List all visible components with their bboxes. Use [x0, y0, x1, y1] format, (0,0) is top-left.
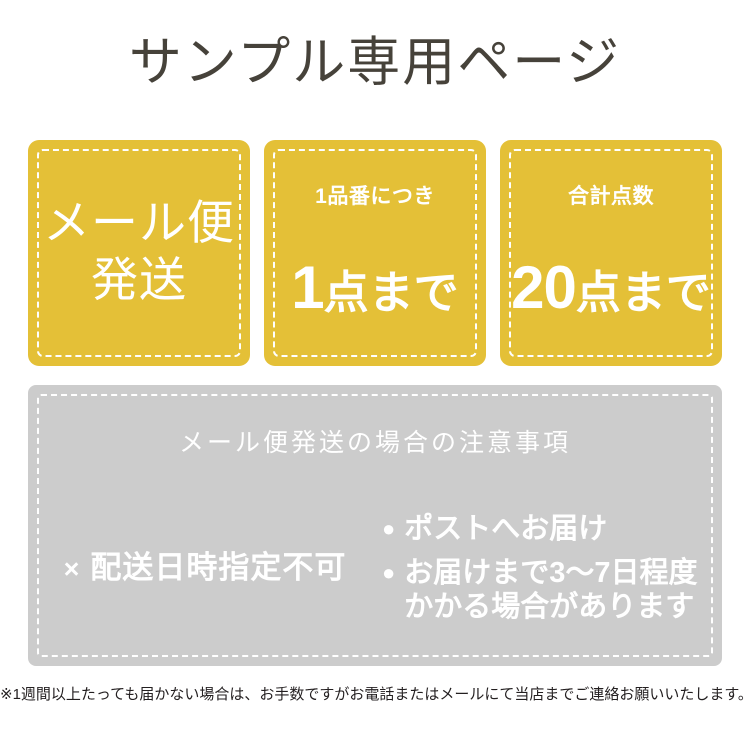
- list-item-text: お届けまで3〜7日程度 かかる場合があります: [404, 556, 697, 624]
- notice-no-date-designation: ×配送日時指定不可: [28, 548, 382, 589]
- list-item-line1: お届けまで3〜7日程度: [404, 557, 697, 589]
- card-per-item-limit: 1品番につき 1点まで: [264, 140, 486, 366]
- bullet-dot-icon: ●: [382, 512, 395, 546]
- info-cards-row: メール便 発送 1品番につき 1点まで 合計点数 20点まで: [28, 140, 722, 366]
- notice-left-text: 配送日時指定不可: [90, 550, 346, 585]
- card-total-value: 20点まで: [500, 255, 722, 337]
- card-mail-shipping-line2: 発送: [91, 253, 187, 310]
- notice-body: ×配送日時指定不可 ● ポストへお届け ● お届けまで3〜7日程度 かかる場合が…: [28, 493, 722, 643]
- notice-panel: メール便発送の場合の注意事項 ×配送日時指定不可 ● ポストへお届け ● お届け…: [28, 385, 722, 666]
- card-mail-shipping-content: メール便 発送: [28, 140, 250, 366]
- card-total-number: 20: [511, 254, 576, 321]
- card-per-item-number: 1: [291, 254, 323, 321]
- card-mail-shipping: メール便 発送: [28, 140, 250, 366]
- card-total-limit: 合計点数 20点まで: [500, 140, 722, 366]
- footer-note: ※1週間以上たっても届かない場合は、お手数ですがお電話またはメールにて当店までご…: [0, 684, 750, 706]
- list-item: ● お届けまで3〜7日程度 かかる場合があります: [382, 556, 712, 624]
- card-total-unit: 点まで: [576, 267, 711, 318]
- notice-bullet-list: ● ポストへお届け ● お届けまで3〜7日程度 かかる場合があります: [382, 512, 712, 624]
- page-title: サンプル専用ページ: [0, 32, 750, 94]
- sample-page: サンプル専用ページ メール便 発送 1品番につき 1点まで 合計点数 20点まで: [0, 0, 750, 750]
- card-per-item-unit: 点まで: [324, 267, 459, 318]
- list-item-text: ポストへお届け: [404, 512, 607, 546]
- list-item-line2: かかる場合があります: [404, 590, 697, 624]
- notice-heading: メール便発送の場合の注意事項: [28, 427, 722, 459]
- card-per-item-sublabel: 1品番につき: [264, 184, 486, 210]
- cross-icon: ×: [64, 554, 81, 584]
- card-mail-shipping-line1: メール便: [43, 196, 235, 253]
- card-per-item-value: 1点まで: [264, 255, 486, 337]
- list-item-line1: ポストへお届け: [404, 513, 607, 545]
- card-total-sublabel: 合計点数: [500, 184, 722, 210]
- bullet-dot-icon: ●: [382, 556, 395, 590]
- list-item: ● ポストへお届け: [382, 512, 712, 546]
